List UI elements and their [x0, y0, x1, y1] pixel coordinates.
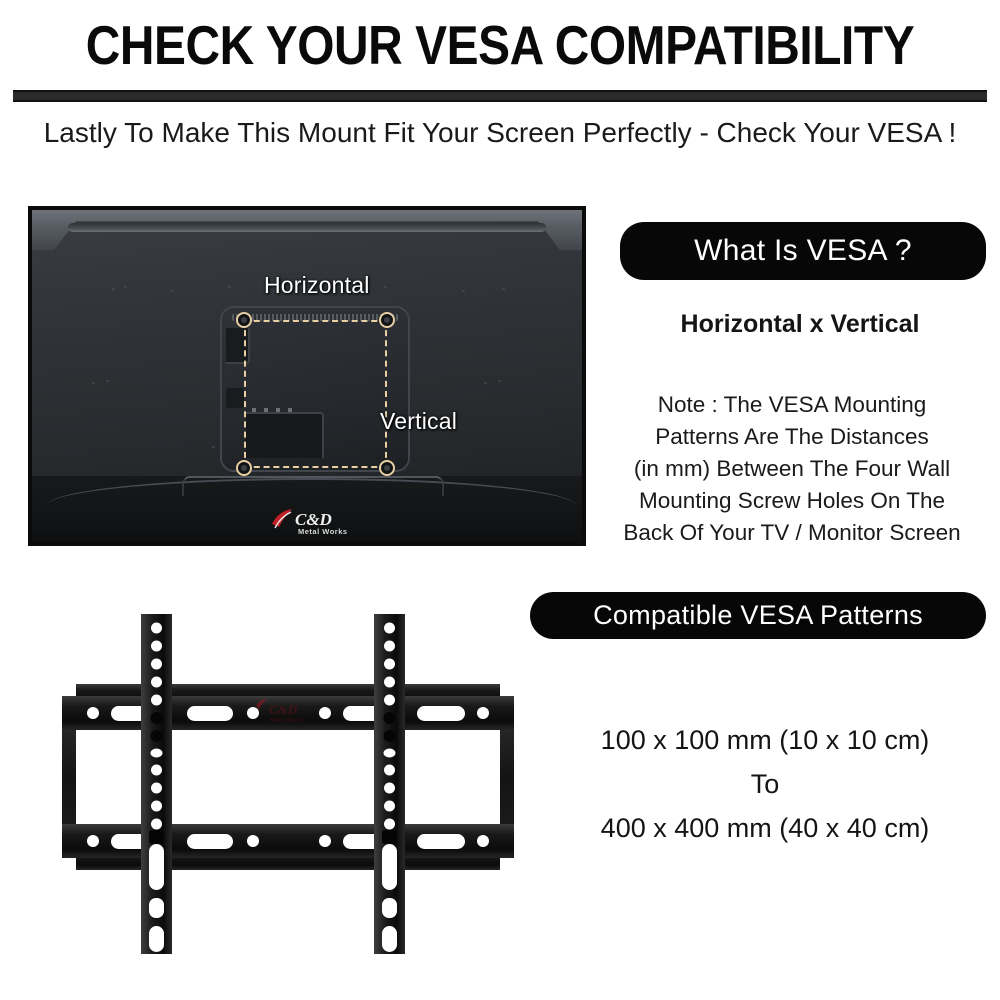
- bracket-svg: C&D Metal Works: [62, 592, 514, 954]
- compatible-patterns-values: 100 x 100 mm (10 x 10 cm) To 400 x 400 m…: [540, 718, 990, 850]
- bracket-rail-left: [141, 614, 172, 954]
- vesa-note-text: Note : The VESA Mounting Patterns Are Th…: [584, 389, 1000, 549]
- note-line: Note : The VESA Mounting: [584, 389, 1000, 421]
- vesa-screw-hole-bottom-left: [236, 460, 252, 476]
- vesa-screw-hole-top-right: [379, 312, 395, 328]
- page-subtitle: Lastly To Make This Mount Fit Your Scree…: [0, 114, 1000, 152]
- tv-plate-notch: [226, 388, 244, 408]
- svg-text:C&D: C&D: [269, 702, 298, 717]
- tv-surface-speck: [228, 286, 231, 288]
- cd-metal-works-logo-tv: C&D Metal Works: [268, 506, 378, 536]
- vesa-formula-label: Horizontal x Vertical: [600, 310, 1000, 339]
- tv-surface-speck: [484, 382, 487, 384]
- note-line: (in mm) Between The Four Wall: [584, 453, 1000, 485]
- tv-surface-speck: [502, 288, 505, 290]
- page-title: CHECK YOUR VESA COMPATIBILITY: [65, 12, 935, 78]
- tv-body: Horizontal Vertical C&D Metal Works: [32, 210, 582, 542]
- horizontal-label: Horizontal: [264, 272, 370, 299]
- note-line: Patterns Are The Distances: [584, 421, 1000, 453]
- tv-back-illustration: Horizontal Vertical C&D Metal Works: [28, 206, 586, 546]
- vesa-screw-hole-bottom-right: [379, 460, 395, 476]
- tv-surface-speck: [384, 286, 387, 288]
- compatible-patterns-heading: Compatible VESA Patterns: [530, 592, 986, 639]
- tv-surface-speck: [212, 446, 215, 448]
- note-line: Mounting Screw Holes On The: [584, 485, 1000, 517]
- bracket-rail-right: [374, 614, 405, 954]
- vesa-pattern-outline: [244, 320, 387, 468]
- tv-top-groove: [68, 223, 546, 232]
- tv-bezel-curve-inner: [182, 476, 444, 496]
- vesa-range-connector: To: [540, 762, 990, 806]
- vesa-max-pattern: 400 x 400 mm (40 x 40 cm): [540, 806, 990, 850]
- wall-mount-bracket-illustration: C&D Metal Works: [62, 592, 514, 954]
- tv-surface-speck: [106, 380, 109, 382]
- note-line: Back Of Your TV / Monitor Screen: [584, 517, 1000, 549]
- tv-surface-speck: [112, 288, 115, 290]
- tv-surface-speck: [124, 286, 127, 288]
- tv-logo-secondary: Metal Works: [298, 527, 348, 536]
- vesa-screw-hole-top-left: [236, 312, 252, 328]
- header-divider: [13, 90, 987, 102]
- tv-surface-speck: [498, 380, 501, 382]
- what-is-vesa-heading: What Is VESA ?: [620, 222, 986, 280]
- vertical-label: Vertical: [380, 408, 457, 435]
- tv-surface-speck: [170, 290, 173, 292]
- tv-surface-speck: [462, 290, 465, 292]
- svg-text:Metal Works: Metal Works: [271, 718, 303, 724]
- tv-surface-speck: [92, 382, 95, 384]
- vesa-min-pattern: 100 x 100 mm (10 x 10 cm): [540, 718, 990, 762]
